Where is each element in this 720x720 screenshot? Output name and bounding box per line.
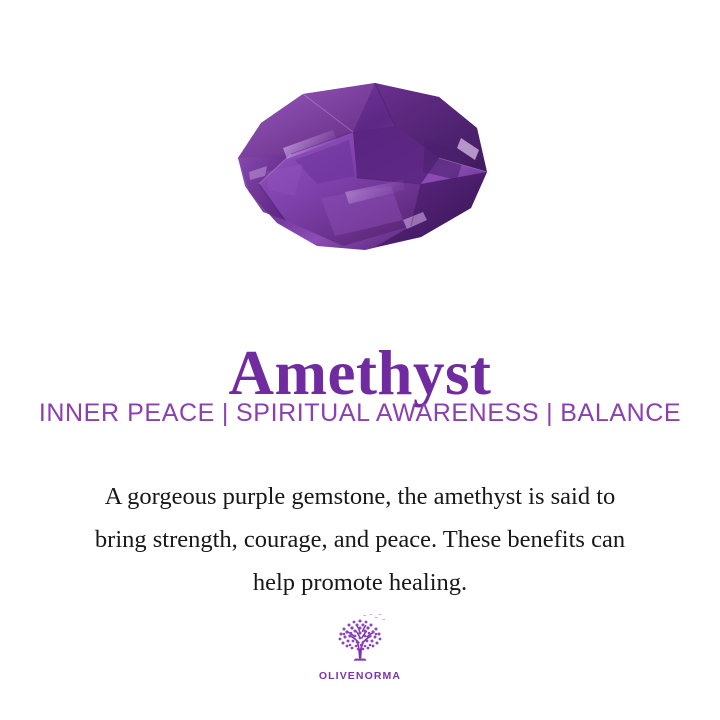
gemstone-image — [0, 80, 720, 270]
keyword-balance: BALANCE — [560, 399, 681, 427]
description-text: A gorgeous purple gemstone, the amethyst… — [50, 475, 670, 604]
brand-logo: OLIVENORMA — [0, 612, 720, 682]
keyword-line: INNER PEACE|SPIRITUAL AWARENESS|BALANCE — [0, 398, 720, 428]
brand-wordmark: OLIVENORMA — [0, 670, 720, 682]
description-line-3: help promote healing. — [253, 569, 467, 596]
keyword-spiritual-awareness: SPIRITUAL AWARENESS — [236, 399, 539, 427]
tree-of-life-icon — [332, 612, 388, 668]
description-line-2: bring strength, courage, and peace. Thes… — [95, 526, 625, 553]
keyword-separator-2: | — [539, 399, 560, 427]
description-line-1: A gorgeous purple gemstone, the amethyst… — [105, 483, 616, 510]
keyword-separator-1: | — [215, 399, 236, 427]
amethyst-info-card: Amethyst INNER PEACE|SPIRITUAL AWARENESS… — [0, 0, 720, 720]
amethyst-crystal-illustration — [225, 80, 495, 255]
keyword-inner-peace: INNER PEACE — [39, 399, 215, 427]
